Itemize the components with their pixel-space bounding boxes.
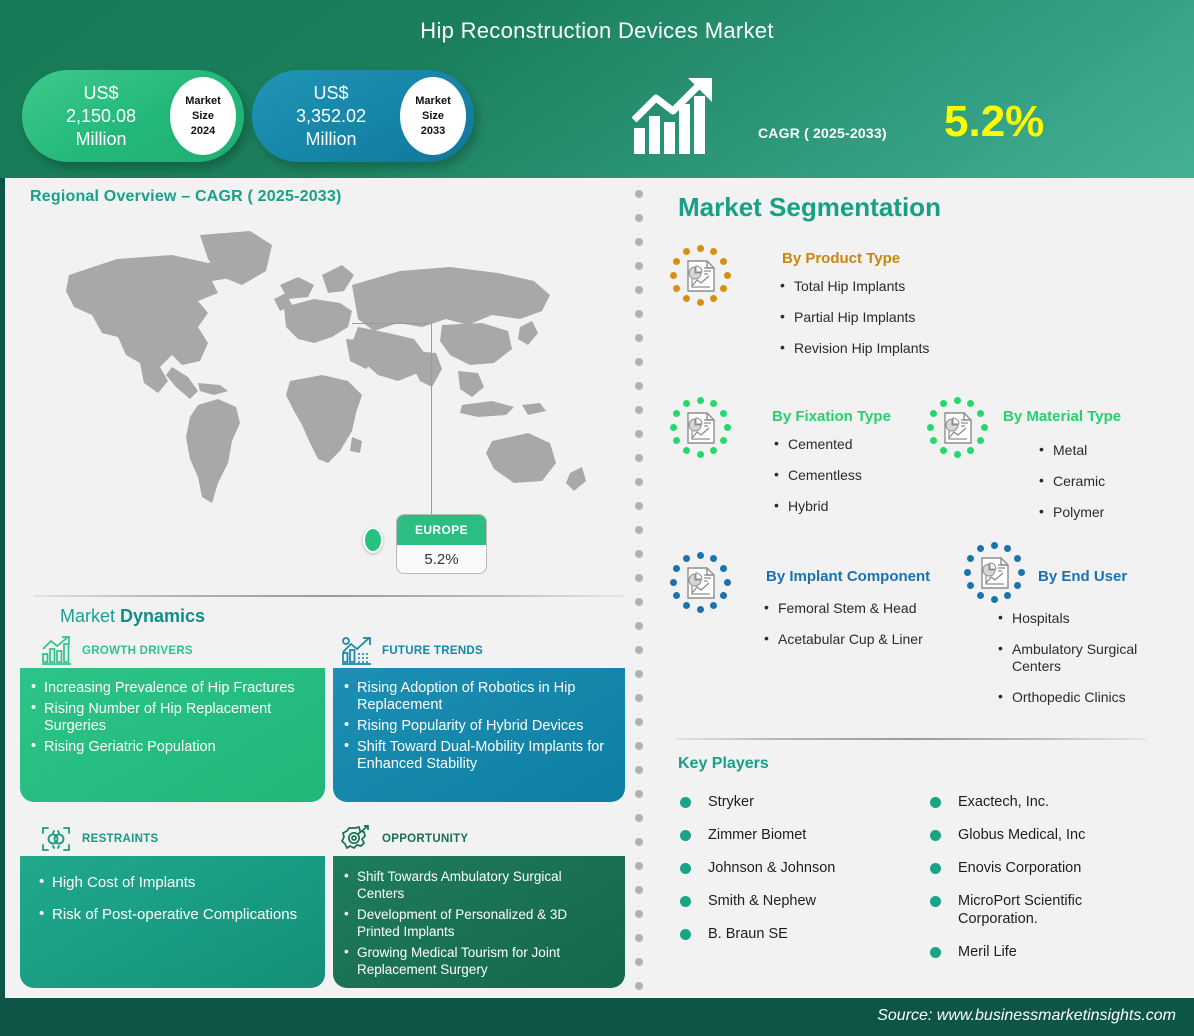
end-user-list: Hospitals Ambulatory Surgical Centers Or…: [996, 610, 1186, 720]
list-item: Globus Medical, Inc: [926, 826, 1161, 844]
market-size-2024-value: US$ 2,150.08 Million: [22, 82, 170, 151]
unit-label: Million: [264, 128, 398, 151]
product-type-icon: [668, 243, 732, 307]
key-players-divider: [676, 738, 1146, 740]
opportunity-list: Shift Towards Ambulatory Surgical Center…: [343, 868, 611, 978]
list-item: Risk of Post-operative Complications: [38, 904, 311, 926]
market-size-2033-pill: US$ 3,352.02 Million Market Size 2033: [252, 70, 474, 162]
value-label: 3,352.02: [264, 105, 398, 128]
europe-map-pin: [363, 527, 383, 553]
panel-divider-dots: [634, 190, 644, 990]
list-item: MicroPort Scientific Corporation.: [926, 892, 1161, 928]
list-item: Orthopedic Clinics: [996, 689, 1186, 706]
page-title: Hip Reconstruction Devices Market: [0, 18, 1194, 44]
callout-leader-vertical: [431, 323, 432, 516]
footer-bar: Source: www.businessmarketinsights.com: [0, 998, 1194, 1036]
list-item: Exactech, Inc.: [926, 793, 1161, 811]
key-players-column-left: Stryker Zimmer Biomet Johnson & Johnson …: [676, 793, 926, 958]
currency-label: US$: [264, 82, 398, 105]
cagr-label: CAGR ( 2025-2033): [758, 125, 887, 141]
list-item: Rising Geriatric Population: [30, 739, 311, 756]
list-item: Increasing Prevalence of Hip Fractures: [30, 680, 311, 697]
list-item: B. Braun SE: [676, 925, 926, 943]
market-size-2033-badge: Market Size 2033: [400, 77, 466, 155]
list-item: Ambulatory Surgical Centers: [996, 641, 1186, 675]
restraints-header: RESTRAINTS: [40, 824, 158, 854]
growth-drivers-list: Increasing Prevalence of Hip Fractures R…: [30, 680, 311, 756]
list-item: Ceramic: [1037, 473, 1187, 490]
list-item: Meril Life: [926, 943, 1161, 961]
list-item: Metal: [1037, 442, 1187, 459]
future-trends-list: Rising Adoption of Robotics in Hip Repla…: [343, 680, 611, 773]
list-item: Partial Hip Implants: [778, 309, 1058, 326]
report-document-icon: [685, 411, 717, 445]
market-dynamics-title: Market Dynamics: [60, 606, 205, 627]
europe-callout-region: EUROPE: [397, 515, 486, 545]
restraints-box: High Cost of Implants Risk of Post-opera…: [20, 856, 325, 988]
material-type-icon: [925, 395, 989, 459]
list-item: Total Hip Implants: [778, 278, 1058, 295]
list-item: Acetabular Cup & Liner: [762, 631, 957, 648]
list-item: Zimmer Biomet: [676, 826, 926, 844]
market-size-2033-value: US$ 3,352.02 Million: [252, 82, 400, 151]
world-map: [22, 215, 622, 575]
restraints-list: High Cost of Implants Risk of Post-opera…: [38, 872, 311, 926]
future-trends-header: FUTURE TRENDS: [340, 636, 483, 666]
material-type-list: Metal Ceramic Polymer: [1037, 442, 1187, 535]
report-document-icon: [979, 556, 1011, 590]
report-document-icon: [685, 259, 717, 293]
list-item: Smith & Nephew: [676, 892, 926, 910]
infographic-page: Hip Reconstruction Devices Market US$ 2,…: [0, 0, 1194, 1036]
future-trends-label: FUTURE TRENDS: [382, 645, 483, 657]
restraints-label: RESTRAINTS: [82, 833, 158, 845]
list-item: Rising Popularity of Hybrid Devices: [343, 718, 611, 735]
implant-component-list: Femoral Stem & Head Acetabular Cup & Lin…: [762, 600, 957, 662]
left-edge-bar: [0, 178, 5, 998]
cagr-value: 5.2%: [944, 98, 1044, 146]
source-label: Source: www.businessmarketinsights.com: [877, 1007, 1176, 1025]
md-title-light: Market: [60, 606, 120, 626]
europe-callout-value: 5.2%: [397, 545, 486, 574]
list-item: Hybrid: [772, 498, 952, 515]
product-type-heading: By Product Type: [782, 250, 900, 267]
list-item: Enovis Corporation: [926, 859, 1161, 877]
regional-overview-title: Regional Overview – CAGR ( 2025-2033): [30, 188, 342, 206]
growth-drivers-box: Increasing Prevalence of Hip Fractures R…: [20, 668, 325, 802]
broken-link-icon: [40, 824, 72, 854]
value-label: 2,150.08: [34, 105, 168, 128]
bar-chart-up-icon: [40, 636, 72, 666]
end-user-heading: By End User: [1038, 568, 1127, 585]
fixation-type-heading: By Fixation Type: [772, 408, 891, 425]
list-item: Polymer: [1037, 504, 1187, 521]
opportunity-box: Shift Towards Ambulatory Surgical Center…: [333, 856, 625, 988]
europe-callout: EUROPE 5.2%: [396, 514, 487, 574]
list-item: Cementless: [772, 467, 952, 484]
unit-label: Million: [34, 128, 168, 151]
list-item: Revision Hip Implants: [778, 340, 1058, 357]
growth-drivers-header: GROWTH DRIVERS: [40, 636, 193, 666]
implant-component-heading: By Implant Component: [766, 568, 930, 585]
trend-chart-icon: [340, 636, 372, 666]
report-document-icon: [942, 411, 974, 445]
list-item: Growing Medical Tourism for Joint Replac…: [343, 944, 611, 978]
header-banner: Hip Reconstruction Devices Market US$ 2,…: [0, 0, 1194, 178]
list-item: Rising Adoption of Robotics in Hip Repla…: [343, 680, 611, 714]
implant-component-icon: [668, 550, 732, 614]
opportunity-header: OPPORTUNITY: [340, 824, 468, 854]
end-user-icon: [962, 540, 1026, 604]
market-size-2024-badge: Market Size 2024: [170, 77, 236, 155]
growth-drivers-label: GROWTH DRIVERS: [82, 645, 193, 657]
material-type-heading: By Material Type: [1003, 408, 1121, 425]
growth-bar-arrow-icon: [632, 78, 722, 156]
market-size-2024-pill: US$ 2,150.08 Million Market Size 2024: [22, 70, 244, 162]
market-segmentation-title: Market Segmentation: [678, 192, 941, 223]
fixation-type-icon: [668, 395, 732, 459]
key-players-title: Key Players: [678, 755, 769, 773]
report-document-icon: [685, 566, 717, 600]
gear-target-icon: [340, 824, 372, 854]
list-item: Shift Towards Ambulatory Surgical Center…: [343, 868, 611, 902]
callout-leader-horizontal: [352, 323, 432, 324]
md-title-bold: Dynamics: [120, 606, 205, 626]
opportunity-label: OPPORTUNITY: [382, 833, 468, 845]
list-item: Stryker: [676, 793, 926, 811]
list-item: Shift Toward Dual-Mobility Implants for …: [343, 739, 611, 773]
list-item: Johnson & Johnson: [676, 859, 926, 877]
list-item: High Cost of Implants: [38, 872, 311, 894]
market-dynamics-divider: [34, 595, 624, 597]
list-item: Femoral Stem & Head: [762, 600, 957, 617]
list-item: Rising Number of Hip Replacement Surgeri…: [30, 701, 311, 735]
product-type-list: Total Hip Implants Partial Hip Implants …: [778, 278, 1058, 371]
world-map-svg: [22, 215, 622, 575]
list-item: Development of Personalized & 3D Printed…: [343, 906, 611, 940]
list-item: Hospitals: [996, 610, 1186, 627]
future-trends-box: Rising Adoption of Robotics in Hip Repla…: [333, 668, 625, 802]
currency-label: US$: [34, 82, 168, 105]
key-players-column-right: Exactech, Inc. Globus Medical, Inc Enovi…: [926, 793, 1161, 976]
